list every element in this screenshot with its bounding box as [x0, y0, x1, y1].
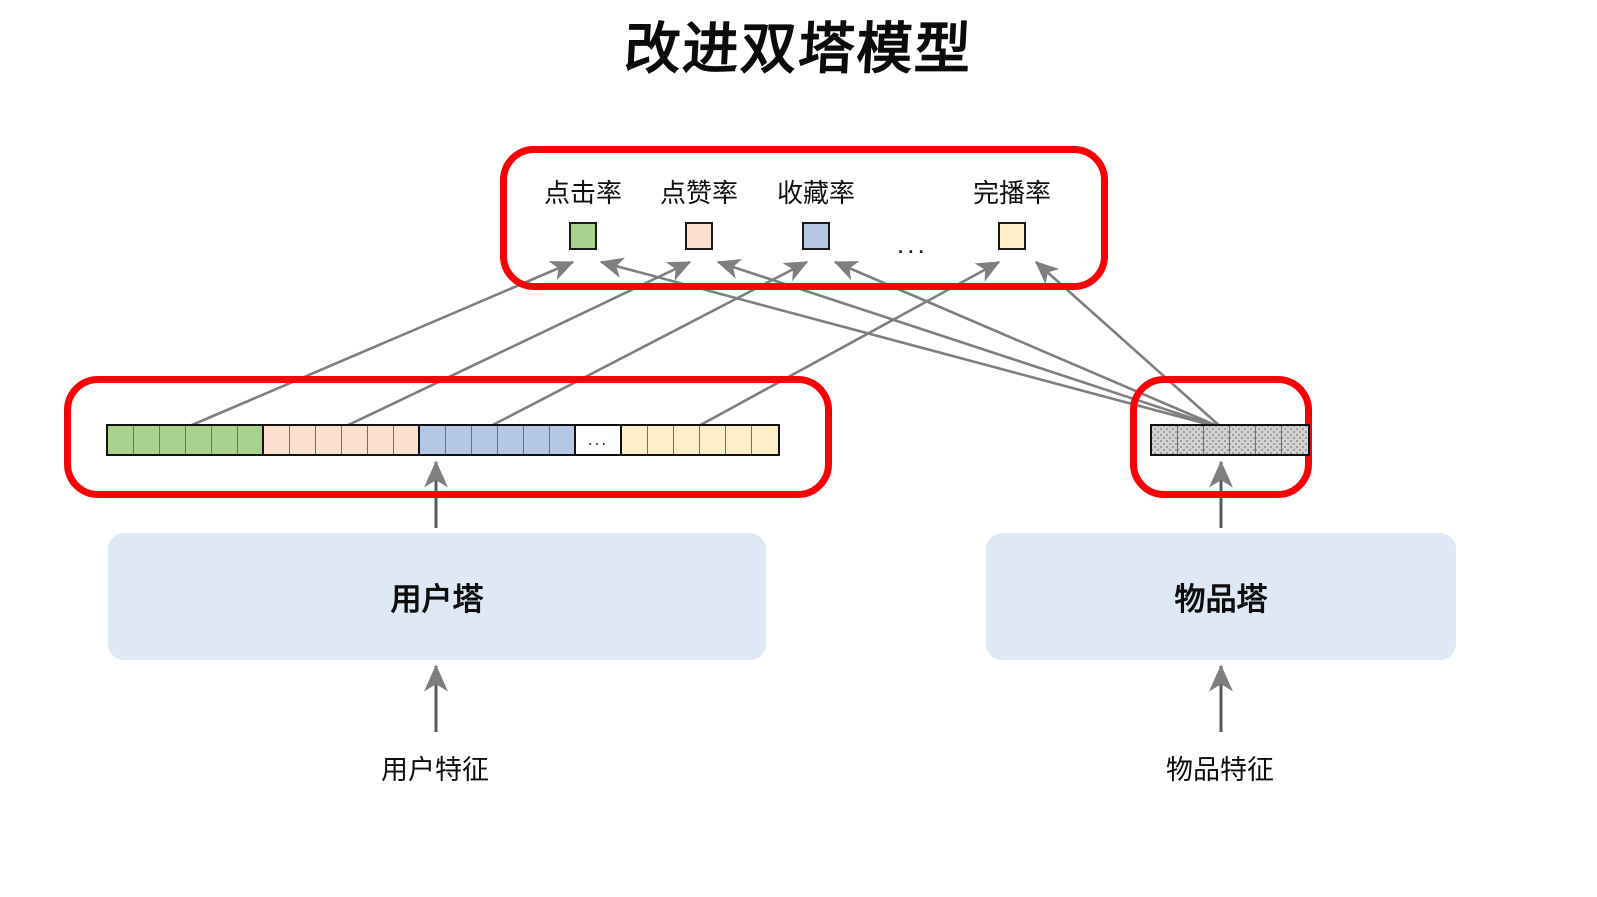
user-vector-cell	[342, 426, 368, 454]
user-vector-cell	[368, 426, 394, 454]
user-vector-cell	[290, 426, 316, 454]
user-vector-cell	[160, 426, 186, 454]
output-head-favorite[interactable]: 收藏率	[769, 180, 863, 250]
item-vector-cell	[1152, 426, 1178, 454]
user-vector-cell	[498, 426, 524, 454]
output-head-swatch	[569, 222, 597, 250]
item-vector-cell	[1230, 426, 1256, 454]
user-tower-block[interactable]: 用户塔	[108, 533, 766, 660]
user-vector-cell	[394, 426, 420, 454]
user-vector-cell	[108, 426, 134, 454]
output-head-like[interactable]: 点赞率	[652, 180, 746, 250]
output-head-swatch	[998, 222, 1026, 250]
user-vector-cell	[700, 426, 726, 454]
user-vector-cell	[752, 426, 778, 454]
diagram-canvas: 改进双塔模型 点击率	[0, 0, 1597, 897]
user-vector-cell	[446, 426, 472, 454]
page-title: 改进双塔模型	[0, 16, 1597, 83]
output-head-label: 收藏率	[769, 180, 863, 206]
item-embedding-vector[interactable]	[1150, 424, 1310, 456]
user-tower-label: 用户塔	[391, 574, 484, 619]
item-tower-label: 物品塔	[1175, 574, 1268, 619]
user-vector-cell	[212, 426, 238, 454]
user-vector-ellipsis-cell: ...	[576, 426, 622, 454]
user-vector-cell	[316, 426, 342, 454]
user-embedding-vector[interactable]: ...	[106, 424, 780, 456]
user-vector-cell	[186, 426, 212, 454]
output-head-label: 完播率	[965, 180, 1059, 206]
user-vector-cell	[648, 426, 674, 454]
output-head-swatch	[802, 222, 830, 250]
output-heads-ellipsis: ...	[897, 231, 928, 257]
output-head-click[interactable]: 点击率	[536, 180, 630, 250]
item-vector-cell	[1178, 426, 1204, 454]
user-vector-cell	[134, 426, 160, 454]
output-head-finish[interactable]: 完播率	[965, 180, 1059, 250]
item-vector-cell	[1256, 426, 1282, 454]
output-head-label: 点赞率	[652, 180, 746, 206]
user-vector-cell	[264, 426, 290, 454]
output-head-label: 点击率	[536, 180, 630, 206]
user-vector-cell	[238, 426, 264, 454]
user-vector-cell	[550, 426, 576, 454]
item-features-label: 物品特征	[1070, 748, 1370, 787]
user-vector-cell	[726, 426, 752, 454]
user-vector-cell	[622, 426, 648, 454]
output-head-swatch	[685, 222, 713, 250]
feature-input-arrows	[436, 666, 1221, 732]
user-features-label: 用户特征	[285, 748, 585, 787]
item-vector-cell	[1282, 426, 1308, 454]
user-vector-cell	[524, 426, 550, 454]
user-vector-cell	[674, 426, 700, 454]
item-vector-cell	[1204, 426, 1230, 454]
item-tower-block[interactable]: 物品塔	[986, 533, 1456, 660]
user-vector-cell	[472, 426, 498, 454]
user-vector-cell	[420, 426, 446, 454]
